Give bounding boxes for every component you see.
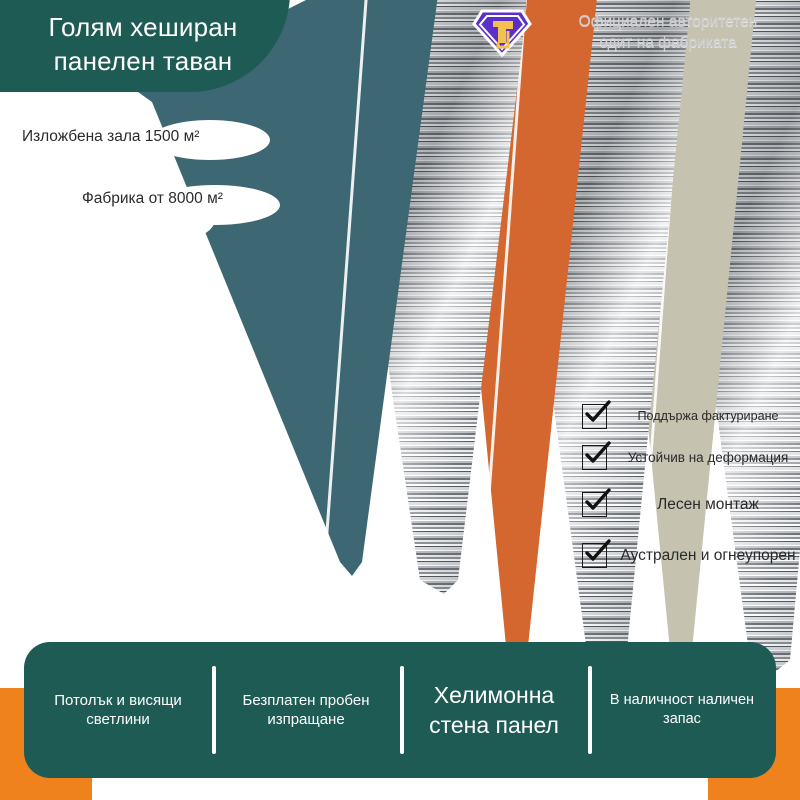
banner-cell-wall-panel[interactable]: Хелимонна стена панел	[400, 642, 588, 778]
checkbox-checked-icon[interactable]	[582, 404, 607, 429]
stat-factory-area: Фабрика от 8000 м²	[82, 190, 223, 208]
panel-teal-face	[110, 0, 440, 680]
feature-label: Поддържа фактуриране	[616, 408, 800, 424]
diamond-shield-logo-icon	[472, 7, 532, 59]
banner-cell-in-stock[interactable]: В наличност наличен запас	[588, 642, 776, 778]
feature-label: Лесен монтаж	[616, 495, 800, 515]
feature-label: Аустрален и огнеупорен	[616, 546, 800, 566]
page-title-line-1: Голям хеширан	[48, 10, 237, 44]
poster-canvas: Голям хеширан панелен таван Официален ав…	[0, 0, 800, 800]
banner-cell-label: В наличност наличен запас	[596, 691, 768, 729]
feature-list: Поддържа фактуриране Устойчив на деформа…	[582, 404, 800, 584]
feature-item[interactable]: Лесен монтаж	[582, 492, 800, 517]
feature-item[interactable]: Поддържа фактуриране	[582, 404, 800, 429]
brand-text-line-2: одит на фабриката	[544, 33, 792, 54]
banner-cell-label: Безплатен пробен изпращане	[220, 691, 392, 730]
feature-item[interactable]: Устойчив на деформация	[582, 445, 800, 470]
page-title: Голям хеширан панелен таван	[0, 0, 290, 92]
checkbox-checked-icon[interactable]	[582, 543, 607, 568]
checkbox-checked-icon[interactable]	[582, 445, 607, 470]
brand-block: Официален авторитетен одит на фабриката	[472, 4, 792, 62]
feature-item[interactable]: Аустрален и огнеупорен	[582, 543, 800, 568]
banner-cell-ceiling-lights[interactable]: Потолък и висящи светлини	[24, 642, 212, 778]
checkbox-checked-icon[interactable]	[582, 492, 607, 517]
feature-label: Устойчив на деформация	[616, 449, 800, 466]
banner-cell-free-sample[interactable]: Безплатен пробен изпращане	[212, 642, 400, 778]
bottom-banner: Потолък и висящи светлини Безплатен проб…	[24, 642, 776, 778]
banner-cell-label: Потолък и висящи светлини	[32, 691, 204, 730]
page-title-line-2: панелен таван	[54, 44, 233, 78]
brand-text-line-1: Официален авторитетен	[544, 12, 792, 33]
banner-cell-label: Хелимонна стена панел	[408, 680, 580, 741]
stat-exhibition-hall: Изложбена зала 1500 м²	[22, 128, 199, 146]
brand-text: Официален авторитетен одит на фабриката	[544, 12, 792, 54]
